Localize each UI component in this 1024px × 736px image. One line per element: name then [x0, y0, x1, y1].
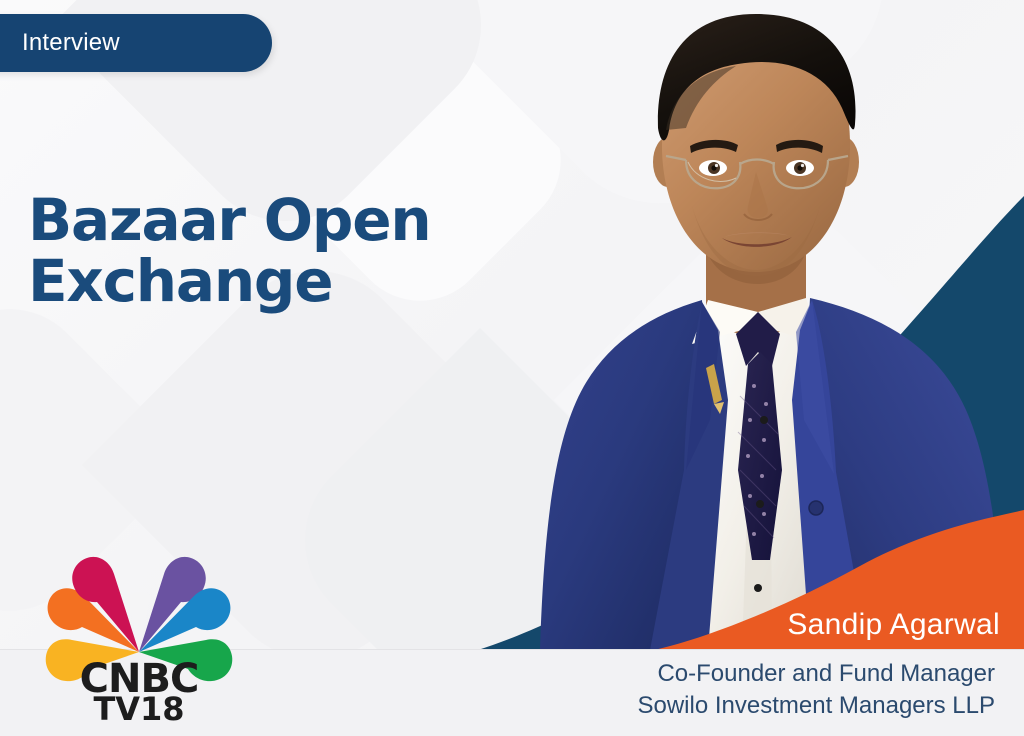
guest-organisation: Sowilo Investment Managers LLP [637, 690, 995, 722]
guest-name: Sandip Agarwal [787, 608, 1000, 642]
guest-credentials: Co-Founder and Fund Manager Sowilo Inves… [637, 658, 995, 722]
interview-badge[interactable]: Interview [0, 14, 272, 72]
headline-line-1: Bazaar Open [28, 186, 430, 254]
cnbc-tv18-logo: CNBC TV18 [36, 556, 242, 722]
interview-badge-label: Interview [22, 29, 120, 57]
logo-wordmark-bottom: TV18 [93, 690, 184, 722]
guest-title: Co-Founder and Fund Manager [637, 658, 995, 690]
headline-line-2: Exchange [28, 251, 498, 312]
page-title: Bazaar Open Exchange [28, 190, 498, 313]
broadcast-graphic-card: Interview Bazaar Open Exchange CNBC TV18 [0, 0, 1024, 736]
